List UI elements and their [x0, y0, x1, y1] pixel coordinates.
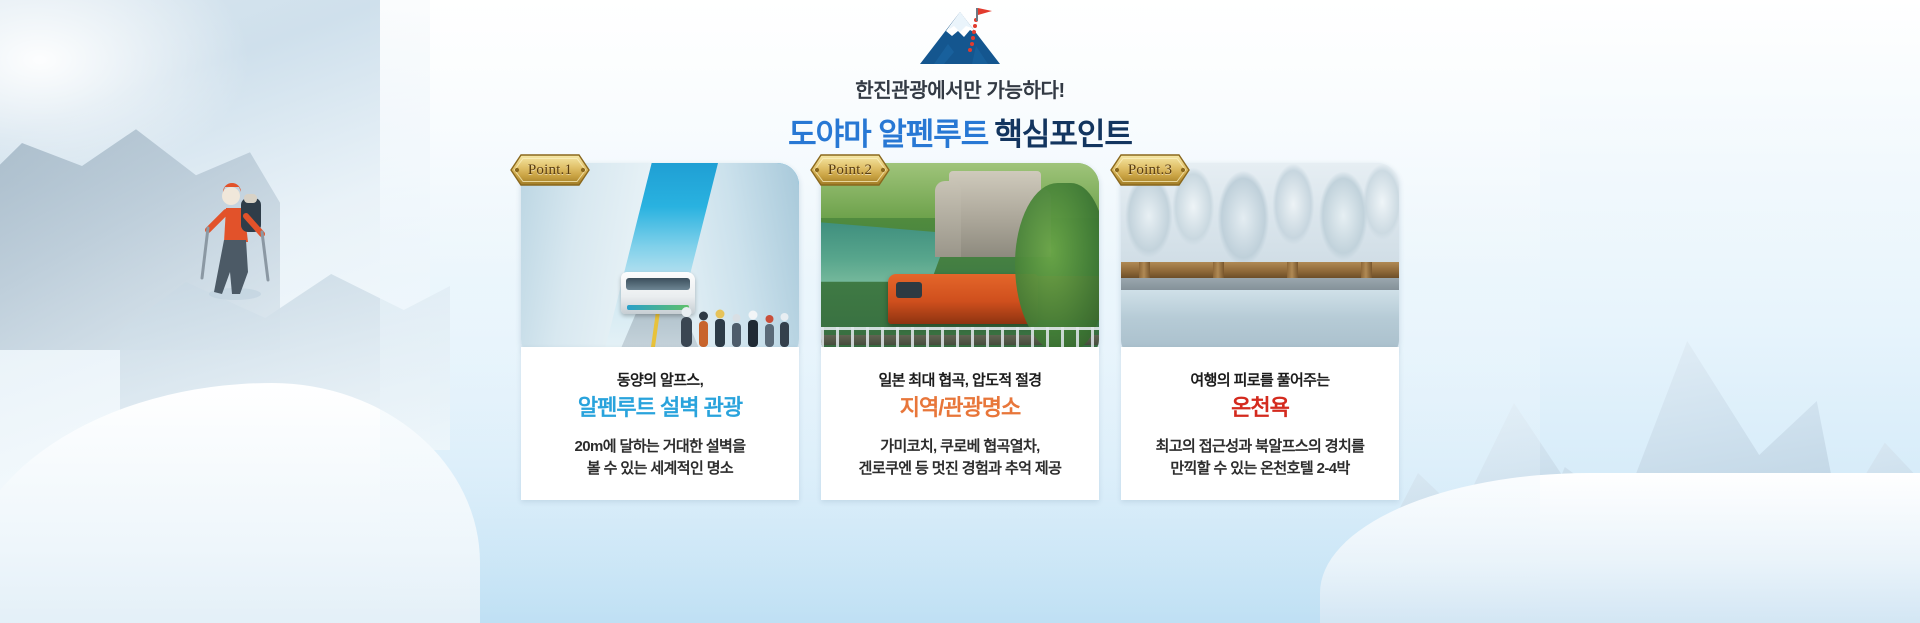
caption-desc-3: 최고의 접근성과 북알프스의 경치를 만끽할 수 있는 온천호텔 2-4박: [1133, 436, 1387, 480]
caption-desc-2: 가미코치, 쿠로베 협곡열차, 겐로쿠엔 등 멋진 경험과 추억 제공: [833, 436, 1087, 480]
rock-ridge-left: [0, 120, 280, 350]
point-cards: Point.1 동양의 알프스, 알펜루트 설벽 관광 20m에 달하는 거대한…: [521, 163, 1399, 500]
gorge-train-photo: [821, 163, 1099, 361]
point-card-2[interactable]: Point.2 일본 최대 협곡, 압도적 절경 지역/관광명소 가미코치, 쿠…: [821, 163, 1099, 500]
promo-banner: 한진관광에서만 가능하다! 도야마 알펜루트핵심포인트: [0, 0, 1920, 623]
point-badge-2: Point.2: [809, 153, 891, 187]
snow-foreground-left: [0, 383, 480, 623]
desc-line-1: 최고의 접근성과 북알프스의 경치를: [1156, 438, 1365, 455]
mountain-fuji-icon: [914, 6, 1006, 70]
caption-main-3: 온천욕: [1133, 394, 1387, 422]
header-subtitle: 한진관광에서만 가능하다!: [0, 74, 1920, 103]
point-badge-label-2: Point.2: [809, 153, 891, 187]
peak-near: [1680, 403, 1920, 623]
point-badge-3: Point.3: [1109, 153, 1191, 187]
point-badge-1: Point.1: [509, 153, 591, 187]
rock-ridge-left-lower: [120, 250, 450, 450]
page-title: 도야마 알펜루트핵심포인트: [0, 109, 1920, 154]
desc-line-2: 만끽할 수 있는 온천호텔 2-4박: [1170, 460, 1349, 477]
snow-ridge-right: [1320, 473, 1920, 623]
caption-main-1: 알펜루트 설벽 관광: [533, 394, 787, 422]
desc-line-1: 20m에 달하는 거대한 설벽을: [575, 438, 746, 455]
title-main: 도야마 알펜루트: [788, 117, 988, 152]
point-card-body-3: 여행의 피로를 풀어주는 온천욕 최고의 접근성과 북알프스의 경치를 만끽할 …: [1121, 347, 1399, 500]
photo3-wooden-railing: [1121, 262, 1399, 278]
point-card-body-1: 동양의 알프스, 알펜루트 설벽 관광 20m에 달하는 거대한 설벽을 볼 수…: [521, 347, 799, 500]
caption-desc-1: 20m에 달하는 거대한 설벽을 볼 수 있는 세계적인 명소: [533, 436, 787, 480]
title-sub: 핵심포인트: [994, 117, 1132, 152]
point-card-3[interactable]: Point.3 여행의 피로를 풀어주는 온천욕 최고의 접근성과 북알프스의 …: [1121, 163, 1399, 500]
banner-header: 한진관광에서만 가능하다! 도야마 알펜루트핵심포인트: [0, 0, 1920, 154]
point-badge-label-1: Point.1: [509, 153, 591, 187]
hiker-figure: [196, 168, 274, 300]
caption-top-1: 동양의 알프스,: [533, 371, 787, 391]
desc-line-2: 볼 수 있는 세계적인 명소: [587, 460, 733, 477]
caption-main-2: 지역/관광명소: [833, 394, 1087, 422]
point-card-1[interactable]: Point.1 동양의 알프스, 알펜루트 설벽 관광 20m에 달하는 거대한…: [521, 163, 799, 500]
mountains-right: [1360, 180, 1920, 623]
point-card-body-2: 일본 최대 협곡, 압도적 절경 지역/관광명소 가미코치, 쿠로베 협곡열차,…: [821, 347, 1099, 500]
desc-line-2: 겐로쿠엔 등 멋진 경험과 추억 제공: [859, 460, 1062, 477]
caption-top-2: 일본 최대 협곡, 압도적 절경: [833, 371, 1087, 391]
peak-main: [1500, 323, 1860, 623]
point-badge-label-3: Point.3: [1109, 153, 1191, 187]
caption-top-3: 여행의 피로를 풀어주는: [1133, 371, 1387, 391]
snow-corridor-photo: [521, 163, 799, 361]
onsen-bath-photo: [1121, 163, 1399, 361]
desc-line-1: 가미코치, 쿠로베 협곡열차,: [880, 438, 1039, 455]
